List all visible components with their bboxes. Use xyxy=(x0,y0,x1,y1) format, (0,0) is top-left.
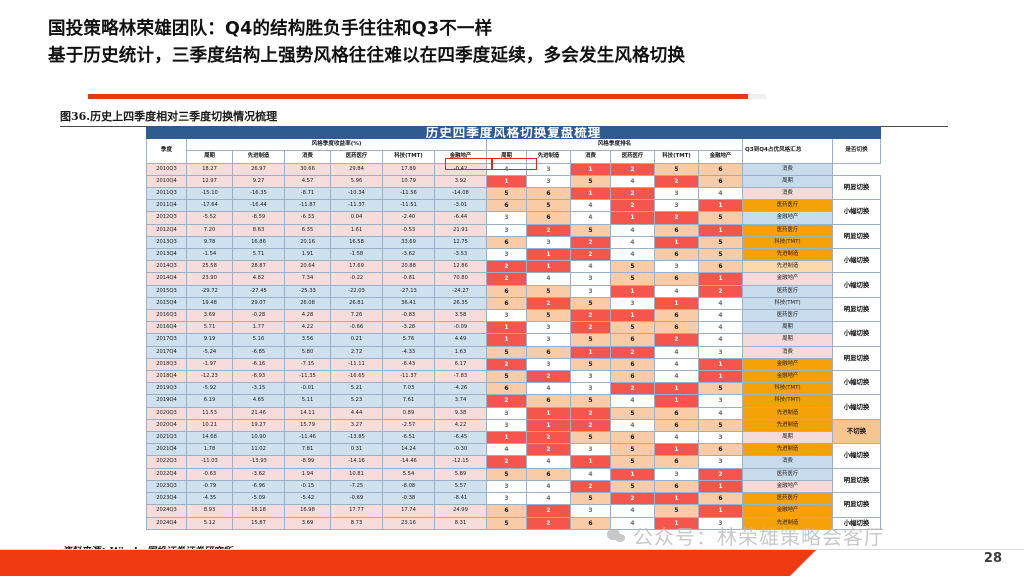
cell-rank-2: 2 xyxy=(527,505,571,517)
cell-rank-6: 5 xyxy=(699,383,743,395)
cell-return-2: -3.15 xyxy=(233,383,285,395)
cell-quarter: 2021Q4 xyxy=(147,444,187,456)
cell-rank-3: 3 xyxy=(571,273,611,285)
cell-quarter: 2013Q3 xyxy=(147,236,187,248)
cell-return-5: 7.61 xyxy=(383,395,435,407)
cell-switch-verdict: 小幅切换 xyxy=(833,200,881,224)
cell-return-2: -3.62 xyxy=(233,468,285,480)
cell-return-3: 20.16 xyxy=(285,236,331,248)
cell-return-3: 1.94 xyxy=(285,468,331,480)
cell-return-4: 0.04 xyxy=(331,212,383,224)
cell-rank-4: 5 xyxy=(611,322,655,334)
cell-rank-6: 4 xyxy=(699,322,743,334)
cell-rank-3: 2 xyxy=(571,310,611,322)
cell-rank-2: 3 xyxy=(527,175,571,187)
cell-return-6: 70.80 xyxy=(435,273,487,285)
cell-dominant-style: 金融地产 xyxy=(743,212,833,224)
table-body: 2010Q318.2726.9730.6629.8417.89-0.424312… xyxy=(147,163,881,529)
cell-return-6: 6.17 xyxy=(435,358,487,370)
cell-return-6: 3.58 xyxy=(435,310,487,322)
cell-rank-3: 1 xyxy=(571,346,611,358)
cell-rank-5: 1 xyxy=(655,493,699,505)
cell-rank-3: 5 xyxy=(571,432,611,444)
cell-rank-3: 3 xyxy=(571,285,611,297)
cell-return-6: 3.74 xyxy=(435,395,487,407)
cell-rank-3: 4 xyxy=(571,200,611,212)
cell-rank-2: 2 xyxy=(527,444,571,456)
cell-return-5: -6.51 xyxy=(383,432,435,444)
cell-rank-5: 4 xyxy=(655,285,699,297)
cell-return-6: -3.53 xyxy=(435,249,487,261)
cell-switch-verdict: 明显切换 xyxy=(833,493,881,517)
cell-rank-3: 2 xyxy=(571,322,611,334)
cell-rank-2: 4 xyxy=(527,493,571,505)
cell-return-4: 2.72 xyxy=(331,346,383,358)
cell-return-1: -0.79 xyxy=(187,480,233,492)
cell-rank-6: 1 xyxy=(699,200,743,212)
col-header-rank-6: 金融地产 xyxy=(699,151,743,163)
cell-return-6: -0.09 xyxy=(435,322,487,334)
cell-rank-5: 6 xyxy=(655,322,699,334)
cell-return-4: 3.27 xyxy=(331,419,383,431)
cell-return-4: -0.66 xyxy=(331,322,383,334)
table-row: 2019Q46.194.655.115.237.613.74265413科技(T… xyxy=(147,395,881,407)
cell-return-3: -7.15 xyxy=(285,358,331,370)
cell-rank-4: 6 xyxy=(611,371,655,383)
cell-rank-4: 4 xyxy=(611,236,655,248)
cell-rank-1: 2 xyxy=(487,261,527,273)
cell-rank-5: 1 xyxy=(655,395,699,407)
cell-return-5: -0.81 xyxy=(383,273,435,285)
watermark: 公众号：林荣雄策略会客厅 xyxy=(607,521,885,550)
cell-dominant-style: 金融地产 xyxy=(743,480,833,492)
cell-rank-6: 4 xyxy=(699,310,743,322)
cell-rank-2: 1 xyxy=(527,261,571,273)
cell-rank-5: 4 xyxy=(655,346,699,358)
cell-return-1: -5.52 xyxy=(187,212,233,224)
cell-rank-6: 1 xyxy=(699,480,743,492)
cell-return-1: 7.20 xyxy=(187,224,233,236)
cell-return-5: -8.08 xyxy=(383,480,435,492)
cell-switch-verdict: 小幅切换 xyxy=(833,273,881,297)
table-group-header-row: 季度 风格季度收益率(%) 风格季度排名 Q3到Q4占优风格汇总 是否切换 xyxy=(147,139,881,151)
cell-return-4: -14.16 xyxy=(331,456,383,468)
cell-return-1: 25.58 xyxy=(187,261,233,273)
cell-return-3: -8.71 xyxy=(285,188,331,200)
cell-return-1: -1.54 xyxy=(187,249,233,261)
cell-return-2: 15.87 xyxy=(233,517,285,529)
cell-return-5: -0.53 xyxy=(383,224,435,236)
cell-return-2: 26.97 xyxy=(233,163,285,175)
cell-rank-6: 6 xyxy=(699,493,743,505)
table-row: 2022Q4-0.63-3.621.9410.815.545.89564132医… xyxy=(147,468,881,480)
cell-return-4: 16.58 xyxy=(331,236,383,248)
cell-return-2: -6.16 xyxy=(233,358,285,370)
cell-rank-1: 6 xyxy=(487,297,527,309)
cell-quarter: 2013Q4 xyxy=(147,249,187,261)
cell-return-6: 4.49 xyxy=(435,334,487,346)
cell-rank-6: 1 xyxy=(699,371,743,383)
cell-return-5: 5.54 xyxy=(383,468,435,480)
cell-rank-1: 4 xyxy=(487,163,527,175)
cell-dominant-style: 先进制造 xyxy=(743,407,833,419)
cell-dominant-style: 医药医疗 xyxy=(743,310,833,322)
cell-return-2: -6.85 xyxy=(233,346,285,358)
cell-switch-verdict: 不切换 xyxy=(833,419,881,443)
cell-return-3: 7.81 xyxy=(285,444,331,456)
cell-return-2: 8.63 xyxy=(233,224,285,236)
col-header-return-6: 金融地产 xyxy=(435,151,487,163)
cell-return-6: -8.41 xyxy=(435,493,487,505)
cell-rank-4: 6 xyxy=(611,432,655,444)
cell-quarter: 2023Q3 xyxy=(147,480,187,492)
cell-quarter: 2011Q4 xyxy=(147,200,187,212)
cell-return-6: 21.91 xyxy=(435,224,487,236)
cell-return-3: 5.80 xyxy=(285,346,331,358)
cell-rank-3: 5 xyxy=(571,334,611,346)
cell-return-6: -3.01 xyxy=(435,200,487,212)
cell-rank-1: 6 xyxy=(487,505,527,517)
table-row: 2012Q3-5.52-8.59-6.330.04-2.40-6.4436412… xyxy=(147,212,881,224)
cell-rank-4: 2 xyxy=(611,383,655,395)
col-header-rank-4: 医药医疗 xyxy=(611,151,655,163)
cell-return-5: -0.83 xyxy=(383,310,435,322)
cell-return-4: -10.34 xyxy=(331,188,383,200)
cell-rank-2: 6 xyxy=(527,346,571,358)
cell-rank-4: 4 xyxy=(611,419,655,431)
cell-quarter: 2015Q3 xyxy=(147,285,187,297)
cell-return-6: -12.15 xyxy=(435,456,487,468)
cell-return-1: -29.72 xyxy=(187,285,233,297)
cell-return-5: -27.13 xyxy=(383,285,435,297)
cell-quarter: 2023Q4 xyxy=(147,493,187,505)
cell-quarter: 2022Q3 xyxy=(147,456,187,468)
cell-return-6: 5.57 xyxy=(435,480,487,492)
cell-rank-6: 3 xyxy=(699,395,743,407)
cell-rank-5: 6 xyxy=(655,407,699,419)
cell-quarter: 2016Q3 xyxy=(147,310,187,322)
cell-quarter: 2014Q3 xyxy=(147,261,187,273)
cell-dominant-style: 科技(TMT) xyxy=(743,236,833,248)
table-row: 2020Q410.2119.2715.793.27-2.574.22312465… xyxy=(147,419,881,431)
cell-dominant-style: 科技(TMT) xyxy=(743,395,833,407)
cell-rank-3: 1 xyxy=(571,188,611,200)
cell-rank-3: 4 xyxy=(571,261,611,273)
cell-return-1: 5.12 xyxy=(187,517,233,529)
cell-rank-1: 1 xyxy=(487,432,527,444)
cell-rank-2: 4 xyxy=(527,383,571,395)
table-row: 2011Q3-15.10-16.35-8.71-10.34-11.56-14.0… xyxy=(147,188,881,200)
cell-rank-2: 6 xyxy=(527,395,571,407)
cell-return-6: -4.26 xyxy=(435,383,487,395)
cell-rank-2: 2 xyxy=(527,297,571,309)
cell-return-2: 18.18 xyxy=(233,505,285,517)
cell-dominant-style: 医药医疗 xyxy=(743,224,833,236)
cell-return-3: 16.98 xyxy=(285,505,331,517)
cell-return-1: -1.97 xyxy=(187,358,233,370)
cell-rank-2: 6 xyxy=(527,468,571,480)
cell-rank-4: 4 xyxy=(611,224,655,236)
cell-dominant-style: 金融地产 xyxy=(743,505,833,517)
cell-return-4: 8.73 xyxy=(331,517,383,529)
cell-rank-5: 3 xyxy=(655,200,699,212)
cell-rank-3: 3 xyxy=(571,444,611,456)
cell-return-5: -11.51 xyxy=(383,200,435,212)
cell-return-4: 0.21 xyxy=(331,334,383,346)
cell-rank-6: 4 xyxy=(699,334,743,346)
cell-rank-5: 6 xyxy=(655,249,699,261)
table-row: 2017Q4-5.24-6.855.802.72-4.331.63561243消… xyxy=(147,346,881,358)
cell-return-1: -5.92 xyxy=(187,383,233,395)
cell-return-1: 6.19 xyxy=(187,395,233,407)
cell-return-6: 8.31 xyxy=(435,517,487,529)
cell-rank-6: 1 xyxy=(699,505,743,517)
cell-dominant-style: 先进制造 xyxy=(743,261,833,273)
cell-return-5: -3.28 xyxy=(383,322,435,334)
cell-dominant-style: 医药医疗 xyxy=(743,493,833,505)
cell-rank-1: 6 xyxy=(487,236,527,248)
col-header-return-2: 先进制造 xyxy=(233,151,285,163)
cell-return-6: 4.22 xyxy=(435,419,487,431)
table-row: 2023Q3-0.79-6.96-0.15-7.25-8.085.5734256… xyxy=(147,480,881,492)
cell-return-2: 5.71 xyxy=(233,249,285,261)
cell-rank-5: 6 xyxy=(655,273,699,285)
cell-rank-4: 5 xyxy=(611,456,655,468)
cell-return-1: 9.78 xyxy=(187,236,233,248)
cell-rank-6: 3 xyxy=(699,346,743,358)
table-row: 2016Q45.711.774.22-0.66-3.28-0.09132564周… xyxy=(147,322,881,334)
cell-return-2: 28.87 xyxy=(233,261,285,273)
cell-return-2: 21.46 xyxy=(233,407,285,419)
cell-return-2: -8.93 xyxy=(233,371,285,383)
cell-return-1: -0.63 xyxy=(187,468,233,480)
cell-return-3: -11.87 xyxy=(285,200,331,212)
cell-rank-4: 1 xyxy=(611,212,655,224)
slide-root: 国投策略林荣雄团队：Q4的结构胜负手往往和Q3不一样 基于历史统计，三季度结构上… xyxy=(0,0,1024,576)
cell-return-1: 11.53 xyxy=(187,407,233,419)
figure-caption: 图36.历史上四季度相对三季度切换情况梳理 xyxy=(60,108,948,127)
cell-return-3: 6.35 xyxy=(285,224,331,236)
cell-rank-1: 1 xyxy=(487,322,527,334)
cell-rank-2: 6 xyxy=(527,212,571,224)
cell-rank-4: 2 xyxy=(611,188,655,200)
cell-return-2: -16.35 xyxy=(233,188,285,200)
cell-return-4: 4.44 xyxy=(331,407,383,419)
cell-dominant-style: 消费 xyxy=(743,163,833,175)
cell-return-5: 10.79 xyxy=(383,175,435,187)
col-header-rank-5: 科技(TMT) xyxy=(655,151,699,163)
cell-rank-6: 5 xyxy=(699,249,743,261)
cell-quarter: 2012Q4 xyxy=(147,224,187,236)
cell-rank-1: 5 xyxy=(487,188,527,200)
cell-return-1: -11.03 xyxy=(187,456,233,468)
cell-return-6: -7.83 xyxy=(435,371,487,383)
cell-return-4: 26.81 xyxy=(331,297,383,309)
cell-rank-5: 4 xyxy=(655,432,699,444)
cell-rank-2: 3 xyxy=(527,334,571,346)
cell-return-1: 19.48 xyxy=(187,297,233,309)
cell-return-1: 8.93 xyxy=(187,505,233,517)
cell-return-1: 10.21 xyxy=(187,419,233,431)
cell-switch-verdict: 明显切换 xyxy=(833,346,881,370)
cell-dominant-style: 周期 xyxy=(743,175,833,187)
cell-return-5: -11.56 xyxy=(383,188,435,200)
cell-rank-1: 2 xyxy=(487,456,527,468)
cell-switch-verdict: 明显切换 xyxy=(833,224,881,248)
table-row: 2017Q39.195.163.560.215.764.49135624周期 xyxy=(147,334,881,346)
cell-return-4: -11.11 xyxy=(331,358,383,370)
group-header-summary: Q3到Q4占优风格汇总 xyxy=(743,139,833,163)
cell-return-1: -15.10 xyxy=(187,188,233,200)
watermark-text: 公众号：林荣雄策略会客厅 xyxy=(633,521,885,550)
cell-rank-5: 4 xyxy=(655,358,699,370)
cell-rank-6: 2 xyxy=(699,468,743,480)
cell-return-3: 14.11 xyxy=(285,407,331,419)
cell-return-5: 17.89 xyxy=(383,163,435,175)
cell-rank-2: 1 xyxy=(527,249,571,261)
table-row: 2011Q4-17.64-16.44-11.87-11.37-11.51-3.0… xyxy=(147,200,881,212)
cell-rank-4: 5 xyxy=(611,407,655,419)
cell-return-4: 5.96 xyxy=(331,175,383,187)
cell-dominant-style: 医药医疗 xyxy=(743,468,833,480)
slide-title-block: 国投策略林荣雄团队：Q4的结构胜负手往往和Q3不一样 基于历史统计，三季度结构上… xyxy=(48,16,1008,70)
cell-rank-4: 2 xyxy=(611,163,655,175)
cell-return-2: 19.27 xyxy=(233,419,285,431)
cell-rank-5: 1 xyxy=(655,383,699,395)
cell-quarter: 2024Q3 xyxy=(147,505,187,517)
cell-quarter: 2017Q4 xyxy=(147,346,187,358)
cell-return-1: 5.71 xyxy=(187,322,233,334)
cell-return-5: 14.24 xyxy=(383,444,435,456)
cell-return-4: 5.21 xyxy=(331,383,383,395)
cell-return-4: 17.77 xyxy=(331,505,383,517)
cell-return-5: -14.46 xyxy=(383,456,435,468)
cell-return-1: 12.97 xyxy=(187,175,233,187)
cell-return-3: 26.08 xyxy=(285,297,331,309)
table-row: 2014Q325.5828.8720.6417.6920.8812.862145… xyxy=(147,261,881,273)
cell-return-5: -0.38 xyxy=(383,493,435,505)
cell-rank-5: 5 xyxy=(655,163,699,175)
cell-rank-6: 3 xyxy=(699,456,743,468)
col-header-return-5: 科技(TMT) xyxy=(383,151,435,163)
cell-quarter: 2018Q4 xyxy=(147,371,187,383)
cell-rank-5: 2 xyxy=(655,175,699,187)
cell-return-6: 9.38 xyxy=(435,407,487,419)
cell-return-5: -2.40 xyxy=(383,212,435,224)
cell-return-1: -4.35 xyxy=(187,493,233,505)
cell-return-4: 5.23 xyxy=(331,395,383,407)
cell-rank-6: 6 xyxy=(699,261,743,273)
cell-return-4: -22.03 xyxy=(331,285,383,297)
cell-return-4: -0.22 xyxy=(331,273,383,285)
table-row: 2013Q4-1.545.711.91-1.58-3.62-3.53312465… xyxy=(147,249,881,261)
cell-return-6: -0.30 xyxy=(435,444,487,456)
cell-switch-verdict: 小幅切换 xyxy=(833,444,881,468)
cell-dominant-style: 医药医疗 xyxy=(743,200,833,212)
cell-rank-3: 2 xyxy=(571,480,611,492)
cell-return-6: -0.42 xyxy=(435,163,487,175)
cell-rank-1: 6 xyxy=(487,285,527,297)
cell-switch-verdict: 小幅切换 xyxy=(833,322,881,346)
footer-accent-bar xyxy=(0,550,790,576)
cell-rank-5: 4 xyxy=(655,371,699,383)
cell-rank-4: 4 xyxy=(611,249,655,261)
page-title-line-2: 基于历史统计，三季度结构上强势风格往往难以在四季度延续，多会发生风格切换 xyxy=(48,43,1008,70)
cell-quarter: 2010Q3 xyxy=(147,163,187,175)
cell-return-4: 7.26 xyxy=(331,310,383,322)
cell-rank-4: 2 xyxy=(611,493,655,505)
cell-return-3: 3.69 xyxy=(285,517,331,529)
cell-rank-2: 3 xyxy=(527,163,571,175)
cell-return-3: -0.01 xyxy=(285,383,331,395)
col-header-return-1: 周期 xyxy=(187,151,233,163)
cell-rank-2: 2 xyxy=(527,224,571,236)
cell-rank-4: 1 xyxy=(611,285,655,297)
cell-return-2: 16.86 xyxy=(233,236,285,248)
wechat-icon xyxy=(607,528,626,544)
cell-return-2: 9.27 xyxy=(233,175,285,187)
cell-rank-4: 5 xyxy=(611,480,655,492)
col-header-rank-3: 消费 xyxy=(571,151,611,163)
cell-dominant-style: 周期 xyxy=(743,322,833,334)
table-row: 2020Q311.5321.4614.114.440.899.38312564先… xyxy=(147,407,881,419)
cell-rank-2: 3 xyxy=(527,322,571,334)
cell-return-1: -5.24 xyxy=(187,346,233,358)
cell-return-5: -3.62 xyxy=(383,249,435,261)
cell-rank-4: 5 xyxy=(611,261,655,273)
cell-return-6: -6.44 xyxy=(435,212,487,224)
cell-rank-5: 5 xyxy=(655,505,699,517)
cell-return-1: 9.19 xyxy=(187,334,233,346)
table-row: 2013Q39.7816.8620.1616.5833.6912.7563241… xyxy=(147,236,881,248)
cell-rank-2: 6 xyxy=(527,188,571,200)
cell-rank-4: 4 xyxy=(611,505,655,517)
cell-return-2: -6.96 xyxy=(233,480,285,492)
cell-rank-1: 3 xyxy=(487,493,527,505)
cell-return-2: 4.65 xyxy=(233,395,285,407)
cell-return-2: 29.07 xyxy=(233,297,285,309)
cell-dominant-style: 消费 xyxy=(743,456,833,468)
cell-quarter: 2020Q4 xyxy=(147,419,187,431)
cell-rank-2: 2 xyxy=(527,432,571,444)
cell-quarter: 2022Q4 xyxy=(147,468,187,480)
cell-rank-4: 3 xyxy=(611,297,655,309)
table-row: 2014Q423.904.827.34-0.22-0.8170.80243561… xyxy=(147,273,881,285)
cell-dominant-style: 科技(TMT) xyxy=(743,297,833,309)
page-title-line-1: 国投策略林荣雄团队：Q4的结构胜负手往往和Q3不一样 xyxy=(48,16,1008,43)
cell-rank-6: 4 xyxy=(699,188,743,200)
cell-rank-5: 3 xyxy=(655,188,699,200)
cell-dominant-style: 先进制造 xyxy=(743,249,833,261)
cell-return-1: 23.90 xyxy=(187,273,233,285)
cell-rank-3: 5 xyxy=(571,297,611,309)
cell-rank-2: 3 xyxy=(527,358,571,370)
cell-rank-2: 2 xyxy=(527,371,571,383)
cell-rank-1: 5 xyxy=(487,346,527,358)
col-header-quarter: 季度 xyxy=(147,139,187,163)
cell-return-5: 23.16 xyxy=(383,517,435,529)
cell-rank-3: 2 xyxy=(571,419,611,431)
cell-return-5: 0.89 xyxy=(383,407,435,419)
cell-rank-5: 1 xyxy=(655,444,699,456)
table-row: 2015Q419.4829.0726.0826.8136.4126.356253… xyxy=(147,297,881,309)
cell-return-3: -6.33 xyxy=(285,212,331,224)
cell-rank-1: 1 xyxy=(487,175,527,187)
cell-return-3: 4.22 xyxy=(285,322,331,334)
cell-rank-4: 4 xyxy=(611,395,655,407)
cell-rank-4: 2 xyxy=(611,346,655,358)
cell-rank-1: 2 xyxy=(487,395,527,407)
